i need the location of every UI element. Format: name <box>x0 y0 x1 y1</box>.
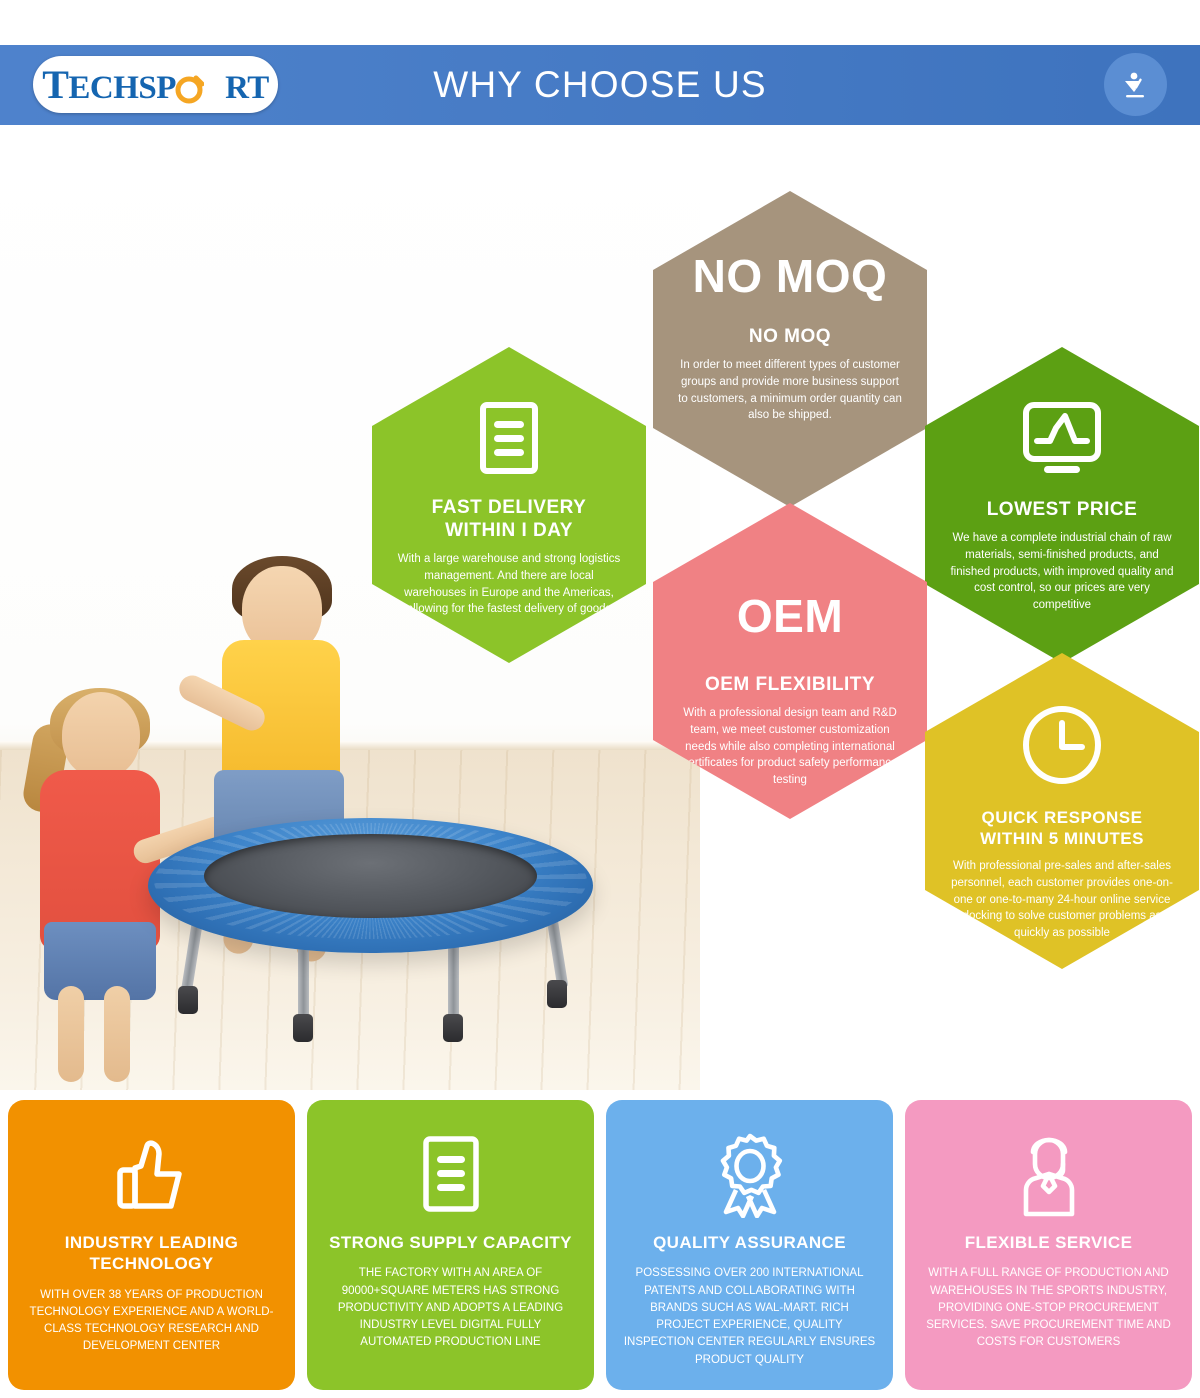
hexagon-oem[interactable]: OEM OEM FLEXIBILITY With a professional … <box>653 503 927 819</box>
hexagon-body: With professional pre-sales and after-sa… <box>949 858 1175 941</box>
card-body: THE FACTORY WITH AN AREA OF 90000+SQUARE… <box>323 1265 578 1351</box>
document-list-icon <box>420 1128 482 1220</box>
card-title: FLEXIBLE SERVICE <box>965 1232 1133 1253</box>
header-badge[interactable] <box>1104 53 1167 116</box>
award-rosette-icon <box>710 1128 790 1220</box>
hexagon-no-moq[interactable]: NO MOQ NO MOQ In order to meet different… <box>653 191 927 507</box>
card-body: WITH A FULL RANGE OF PRODUCTION AND WARE… <box>921 1265 1176 1351</box>
infographic-page: WHY CHOOSE US TECHSPORT <box>0 0 1200 1398</box>
brand-logo[interactable]: TECHSPORT <box>33 56 278 113</box>
hexagon-title: FAST DELIVERY WITHIN I DAY <box>396 496 622 542</box>
thumbs-up-icon <box>113 1128 191 1220</box>
card-quality-assurance[interactable]: QUALITY ASSURANCE POSSESSING OVER 200 IN… <box>606 1100 893 1390</box>
hexagon-title: LOWEST PRICE <box>987 498 1138 521</box>
hexagon-headline: NO MOQ <box>693 253 888 299</box>
logo-orange-ring-icon <box>176 76 200 100</box>
card-title: STRONG SUPPLY CAPACITY <box>329 1232 572 1253</box>
hexagon-body: In order to meet different types of cust… <box>677 357 903 424</box>
hexagon-body: With a large warehouse and strong logist… <box>396 551 622 618</box>
hexagon-grid: NO MOQ NO MOQ In order to meet different… <box>0 125 1200 1090</box>
person-check-icon <box>1119 68 1153 102</box>
headset-agent-icon <box>1009 1128 1089 1220</box>
document-list-icon <box>478 401 540 480</box>
card-industry-leading-technology[interactable]: INDUSTRY LEADING TECHNOLOGY WITH OVER 38… <box>8 1100 295 1390</box>
hexagon-body: We have a complete industrial chain of r… <box>949 530 1175 613</box>
clock-icon <box>1020 703 1104 792</box>
hexagon-fast-delivery[interactable]: FAST DELIVERY WITHIN I DAY With a large … <box>372 347 646 663</box>
hexagon-title: OEM FLEXIBILITY <box>705 673 875 696</box>
monitor-chart-icon <box>1020 401 1104 482</box>
card-body: POSSESSING OVER 200 INTERNATIONAL PATENT… <box>622 1265 877 1369</box>
hexagon-title: NO MOQ <box>749 325 831 348</box>
hexagon-title: QUICK RESPONSE WITHIN 5 MINUTES <box>949 808 1175 849</box>
hexagon-quick-response[interactable]: QUICK RESPONSE WITHIN 5 MINUTES With pro… <box>925 653 1199 969</box>
card-body: WITH OVER 38 YEARS OF PRODUCTION TECHNOL… <box>24 1287 279 1356</box>
hexagon-headline: OEM <box>737 593 843 639</box>
feature-cards: INDUSTRY LEADING TECHNOLOGY WITH OVER 38… <box>0 1100 1200 1390</box>
brand-logo-text: TECHSPORT <box>42 65 269 105</box>
card-flexible-service[interactable]: FLEXIBLE SERVICE WITH A FULL RANGE OF PR… <box>905 1100 1192 1390</box>
card-strong-supply-capacity[interactable]: STRONG SUPPLY CAPACITY THE FACTORY WITH … <box>307 1100 594 1390</box>
hexagon-lowest-price[interactable]: LOWEST PRICE We have a complete industri… <box>925 347 1199 663</box>
hexagon-body: With a professional design team and R&D … <box>677 705 903 788</box>
page-header: WHY CHOOSE US TECHSPORT <box>0 45 1200 125</box>
card-title: QUALITY ASSURANCE <box>653 1232 846 1253</box>
card-title: INDUSTRY LEADING TECHNOLOGY <box>24 1232 279 1275</box>
